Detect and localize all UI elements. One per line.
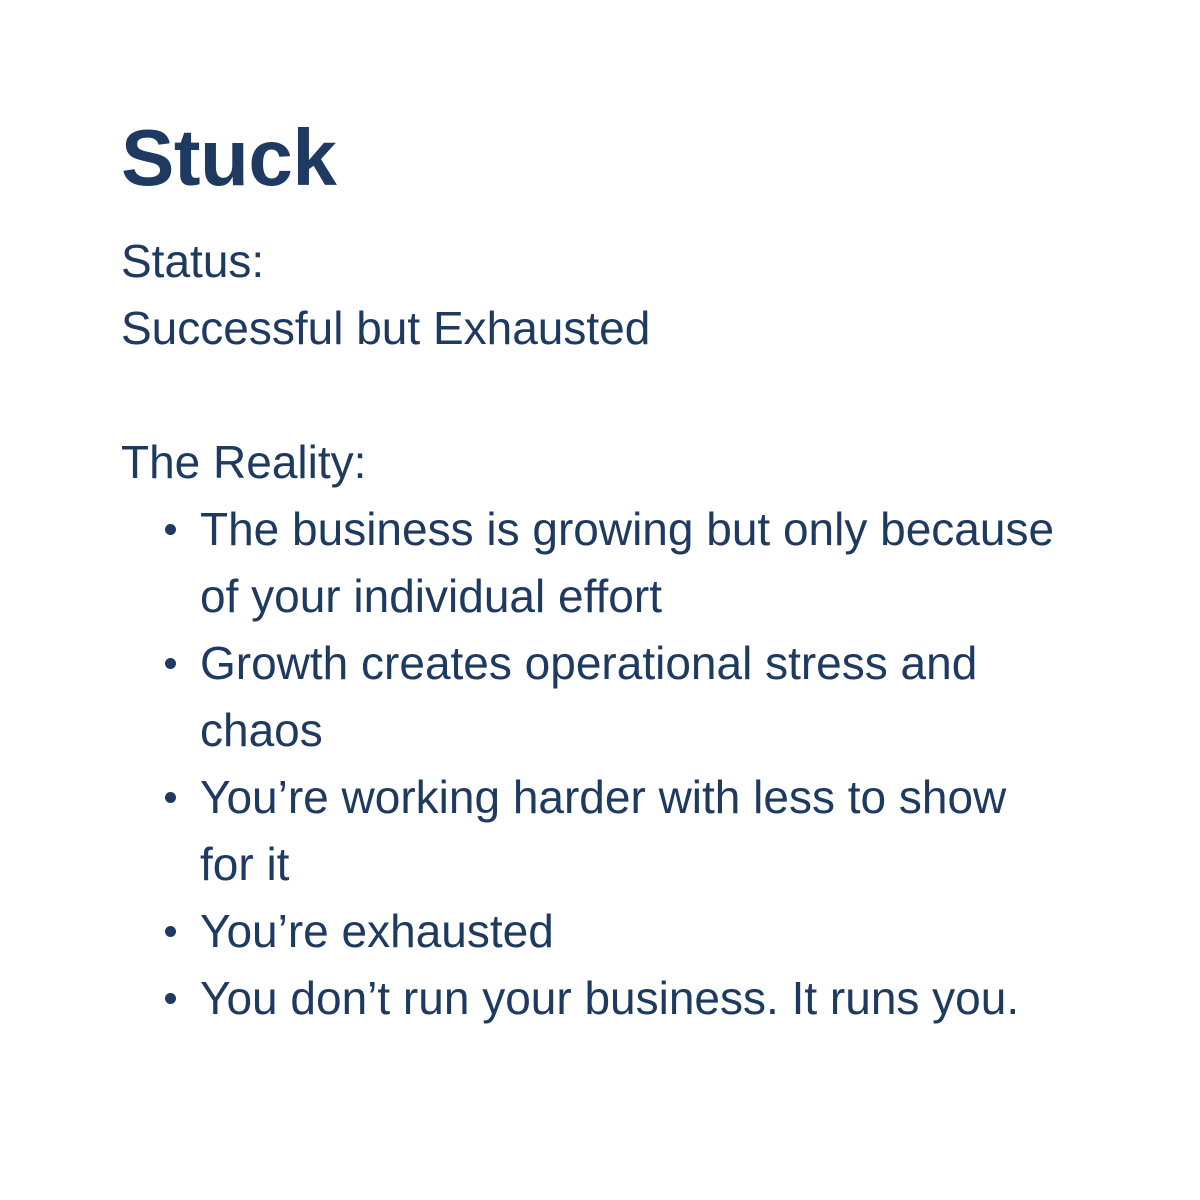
block-spacer xyxy=(121,362,1101,429)
bullet-dot-icon xyxy=(165,524,176,535)
status-value: Successful but Exhausted xyxy=(121,295,1101,362)
reality-bullet-list: The business is growing but only because… xyxy=(121,496,1101,1032)
slide-canvas: Stuck Status: Successful but Exhausted T… xyxy=(0,0,1200,1200)
slide-content: Stuck Status: Successful but Exhausted T… xyxy=(121,118,1101,1032)
list-item-label: You don’t run your business. It runs you… xyxy=(200,972,1019,1024)
list-item-label: The business is growing but only because… xyxy=(200,503,1054,622)
list-item: You don’t run your business. It runs you… xyxy=(121,965,1060,1032)
bullet-dot-icon xyxy=(165,658,176,669)
list-item-label: You’re exhausted xyxy=(200,905,554,957)
reality-label: The Reality: xyxy=(121,429,1101,496)
bullet-dot-icon xyxy=(165,792,176,803)
page-title: Stuck xyxy=(121,118,1101,198)
list-item-label: Growth creates operational stress and ch… xyxy=(200,637,977,756)
status-label: Status: xyxy=(121,228,1101,295)
status-block: Status: Successful but Exhausted The Rea… xyxy=(121,228,1101,496)
list-item: Growth creates operational stress and ch… xyxy=(121,630,1060,764)
bullet-dot-icon xyxy=(165,926,176,937)
list-item: You’re working harder with less to show … xyxy=(121,764,1060,898)
bullet-dot-icon xyxy=(165,993,176,1004)
list-item-label: You’re working harder with less to show … xyxy=(200,771,1006,890)
list-item: You’re exhausted xyxy=(121,898,1060,965)
list-item: The business is growing but only because… xyxy=(121,496,1060,630)
